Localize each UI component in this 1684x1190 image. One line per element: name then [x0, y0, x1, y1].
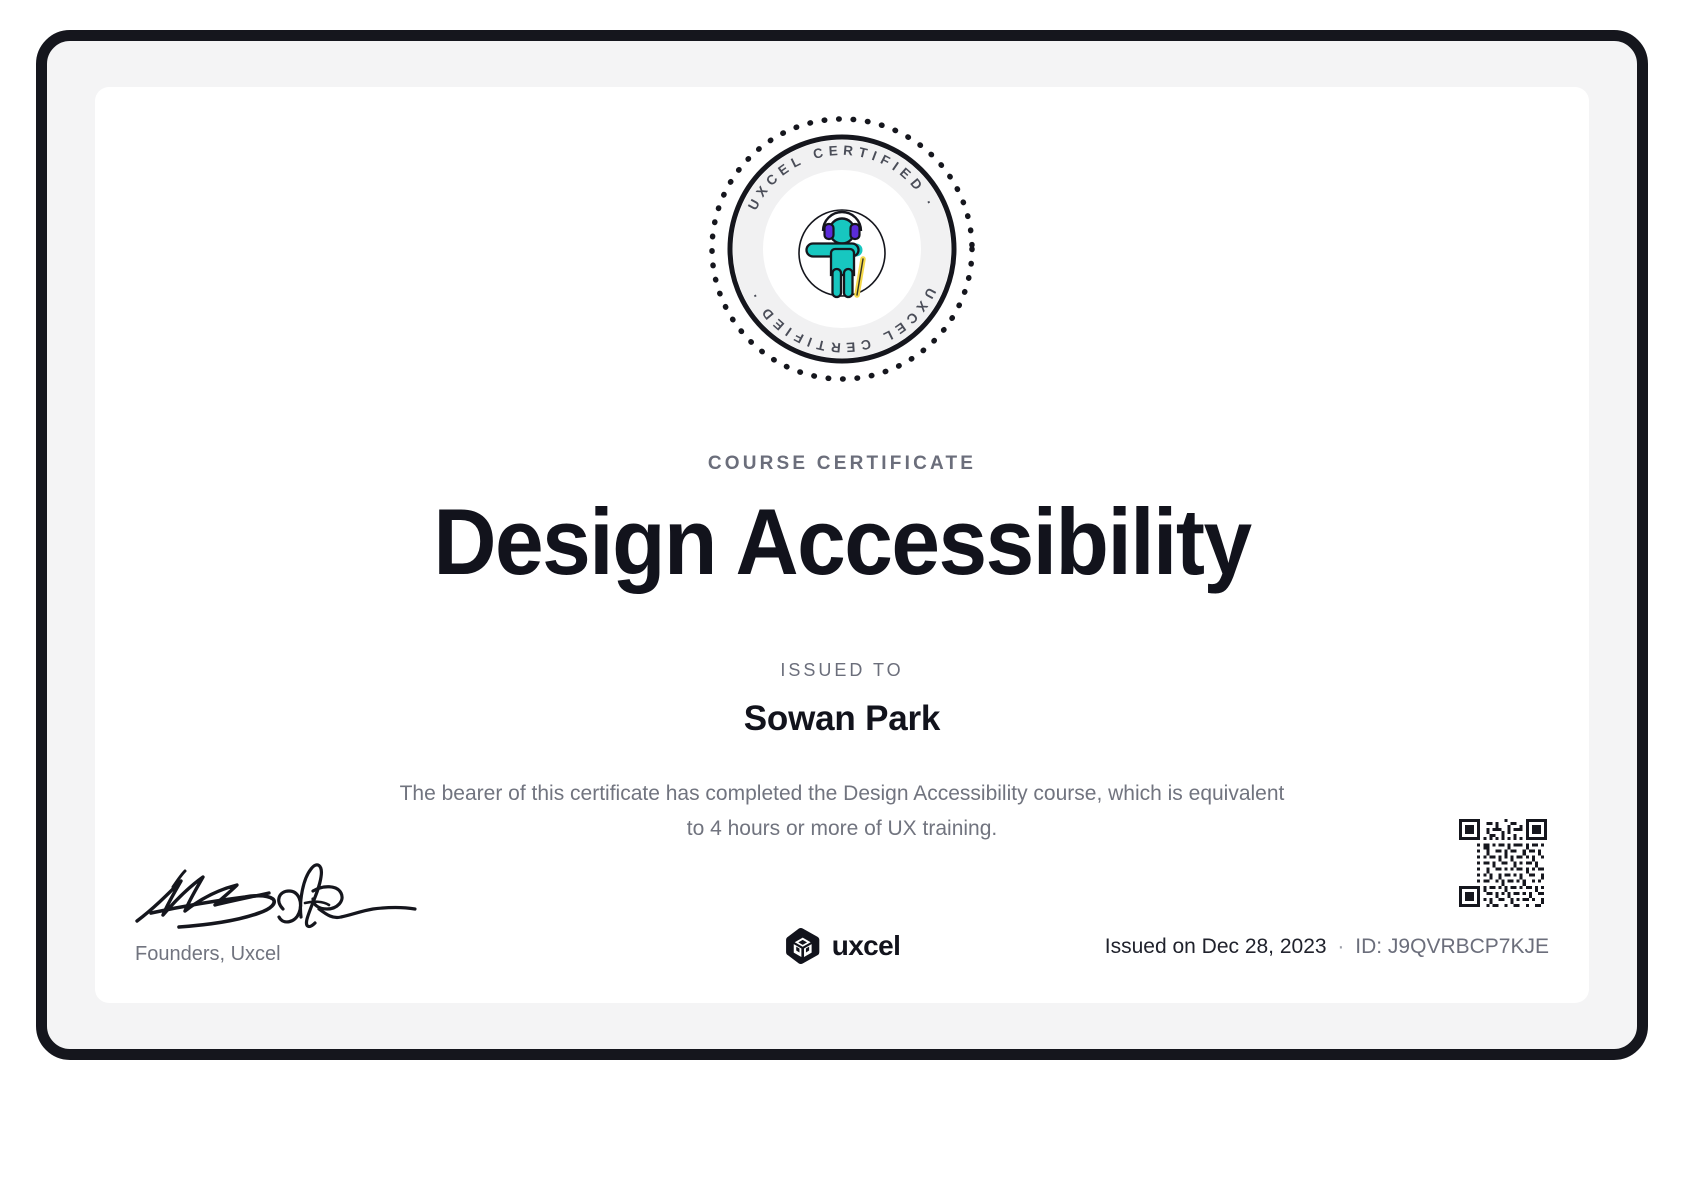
issue-meta: Issued on Dec 28, 2023 · ID: J9QVRBCP7KJ…: [1105, 935, 1549, 959]
recipient-name: Sowan Park: [95, 699, 1589, 739]
signature-caption: Founders, Uxcel: [135, 943, 463, 966]
uxcel-wordmark: uxcel: [832, 930, 901, 962]
page-title: Design Accessibility: [147, 492, 1536, 592]
signature-block: Founders, Uxcel: [133, 847, 463, 966]
certificate-frame: UXCEL CERTIFIED · UXCEL CERTIFIED ·: [36, 30, 1648, 1060]
uxcel-brand: uxcel: [784, 927, 901, 965]
qr-code[interactable]: [1459, 819, 1547, 907]
uxcel-certified-badge: UXCEL CERTIFIED · UXCEL CERTIFIED ·: [706, 113, 978, 385]
certificate-card: UXCEL CERTIFIED · UXCEL CERTIFIED ·: [95, 87, 1589, 1003]
certificate-id: ID: J9QVRBCP7KJE: [1355, 935, 1549, 958]
uxcel-hexagon-logo-icon: [784, 927, 822, 965]
issued-to-label: ISSUED TO: [95, 660, 1589, 681]
certificate-description: The bearer of this certificate has compl…: [392, 777, 1292, 846]
founders-signatures: [133, 847, 418, 933]
kicker-label: COURSE CERTIFICATE: [95, 453, 1589, 475]
meta-separator: ·: [1332, 935, 1349, 958]
issued-on-text: Issued on Dec 28, 2023: [1105, 935, 1327, 958]
